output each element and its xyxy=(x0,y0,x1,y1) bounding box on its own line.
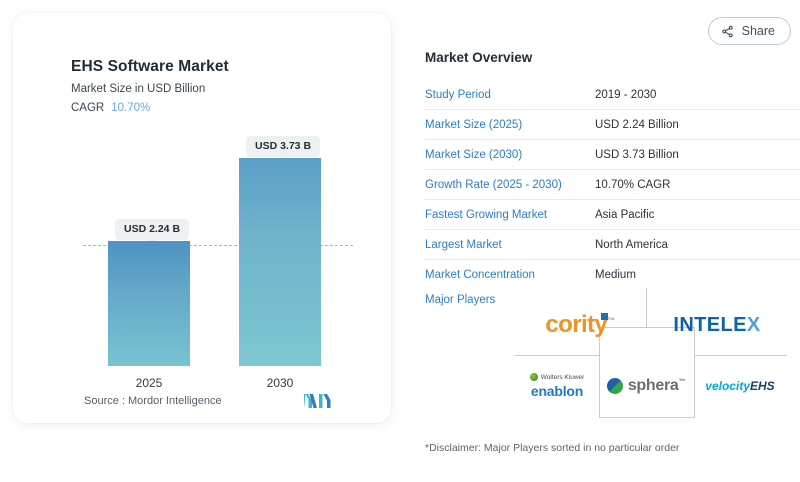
row-value: Medium xyxy=(595,269,636,281)
x-axis-tick-2025: 2025 xyxy=(108,376,190,390)
sphera-logo-tm: ™ xyxy=(678,379,685,386)
share-button-label: Share xyxy=(742,24,775,38)
x-axis-tick-2030: 2030 xyxy=(239,376,321,390)
row-value: North America xyxy=(595,239,668,251)
bar-2025[interactable] xyxy=(108,241,190,366)
overview-title: Market Overview xyxy=(425,50,532,65)
row-label: Largest Market xyxy=(425,239,595,251)
row-value: 10.70% CAGR xyxy=(595,179,670,191)
velocityehs-logo[interactable]: velocityEHS xyxy=(695,364,785,408)
source-text: Source : Mordor Intelligence xyxy=(84,395,222,407)
table-row: Market Size (2025) USD 2.24 Billion xyxy=(425,110,800,140)
enablon-logo-text: enablon xyxy=(531,383,583,399)
table-row: Fastest Growing Market Asia Pacific xyxy=(425,200,800,230)
cority-logo-text: cority xyxy=(545,311,607,338)
intelex-logo[interactable]: INTELEX xyxy=(651,302,783,348)
disclaimer-text: *Disclaimer: Major Players sorted in no … xyxy=(425,442,679,454)
market-overview-panel: Share Market Overview Study Period 2019 … xyxy=(410,0,800,482)
share-button[interactable]: Share xyxy=(708,17,791,45)
row-label: Market Concentration xyxy=(425,269,595,281)
row-value: 2019 - 2030 xyxy=(595,89,656,101)
table-row: Largest Market North America xyxy=(425,230,800,260)
row-label: Market Size (2030) xyxy=(425,149,595,161)
row-value: Asia Pacific xyxy=(595,209,654,221)
wolters-kluwer-icon xyxy=(530,373,538,381)
sphera-logo[interactable]: sphera™ xyxy=(601,364,691,408)
table-row: Market Size (2030) USD 3.73 Billion xyxy=(425,140,800,170)
major-players-logo-grid: cority™ INTELEX Wolters Kluwer enablon s… xyxy=(515,288,787,416)
chart-card: EHS Software Market Market Size in USD B… xyxy=(13,13,391,423)
row-value: USD 3.73 Billion xyxy=(595,149,679,161)
table-row: Market Concentration Medium xyxy=(425,260,800,289)
sphera-logo-text: sphera xyxy=(628,377,679,394)
row-value: USD 2.24 Billion xyxy=(595,119,679,131)
row-label: Growth Rate (2025 - 2030) xyxy=(425,179,595,191)
enablon-logo[interactable]: Wolters Kluwer enablon xyxy=(517,364,597,408)
table-row: Study Period 2019 - 2030 xyxy=(425,80,800,110)
cority-logo-dot xyxy=(601,313,608,320)
overview-table: Study Period 2019 - 2030 Market Size (20… xyxy=(425,80,800,289)
cority-logo[interactable]: cority™ xyxy=(517,302,643,348)
velocityehs-logo-text-a: velocity xyxy=(705,379,750,393)
bar-chart-plot-area: USD 2.24 B USD 3.73 B 2025 2030 xyxy=(26,13,404,423)
bar-value-label-2030: USD 3.73 B xyxy=(246,136,320,157)
bar-2030[interactable] xyxy=(239,158,321,366)
intelex-logo-text: INTELE xyxy=(673,314,747,336)
velocityehs-logo-text-b: EHS xyxy=(750,379,775,393)
sphera-mark-icon xyxy=(607,378,623,394)
mordor-intelligence-logo xyxy=(303,392,333,409)
intelex-logo-accent: X xyxy=(747,314,761,336)
row-label: Fastest Growing Market xyxy=(425,209,595,221)
wolters-kluwer-text: Wolters Kluwer xyxy=(541,374,585,381)
row-label: Study Period xyxy=(425,89,595,101)
row-label: Market Size (2025) xyxy=(425,119,595,131)
table-row: Growth Rate (2025 - 2030) 10.70% CAGR xyxy=(425,170,800,200)
share-nodes-icon xyxy=(721,25,734,38)
major-players-label: Major Players xyxy=(425,294,495,306)
bar-value-label-2025: USD 2.24 B xyxy=(115,219,189,240)
